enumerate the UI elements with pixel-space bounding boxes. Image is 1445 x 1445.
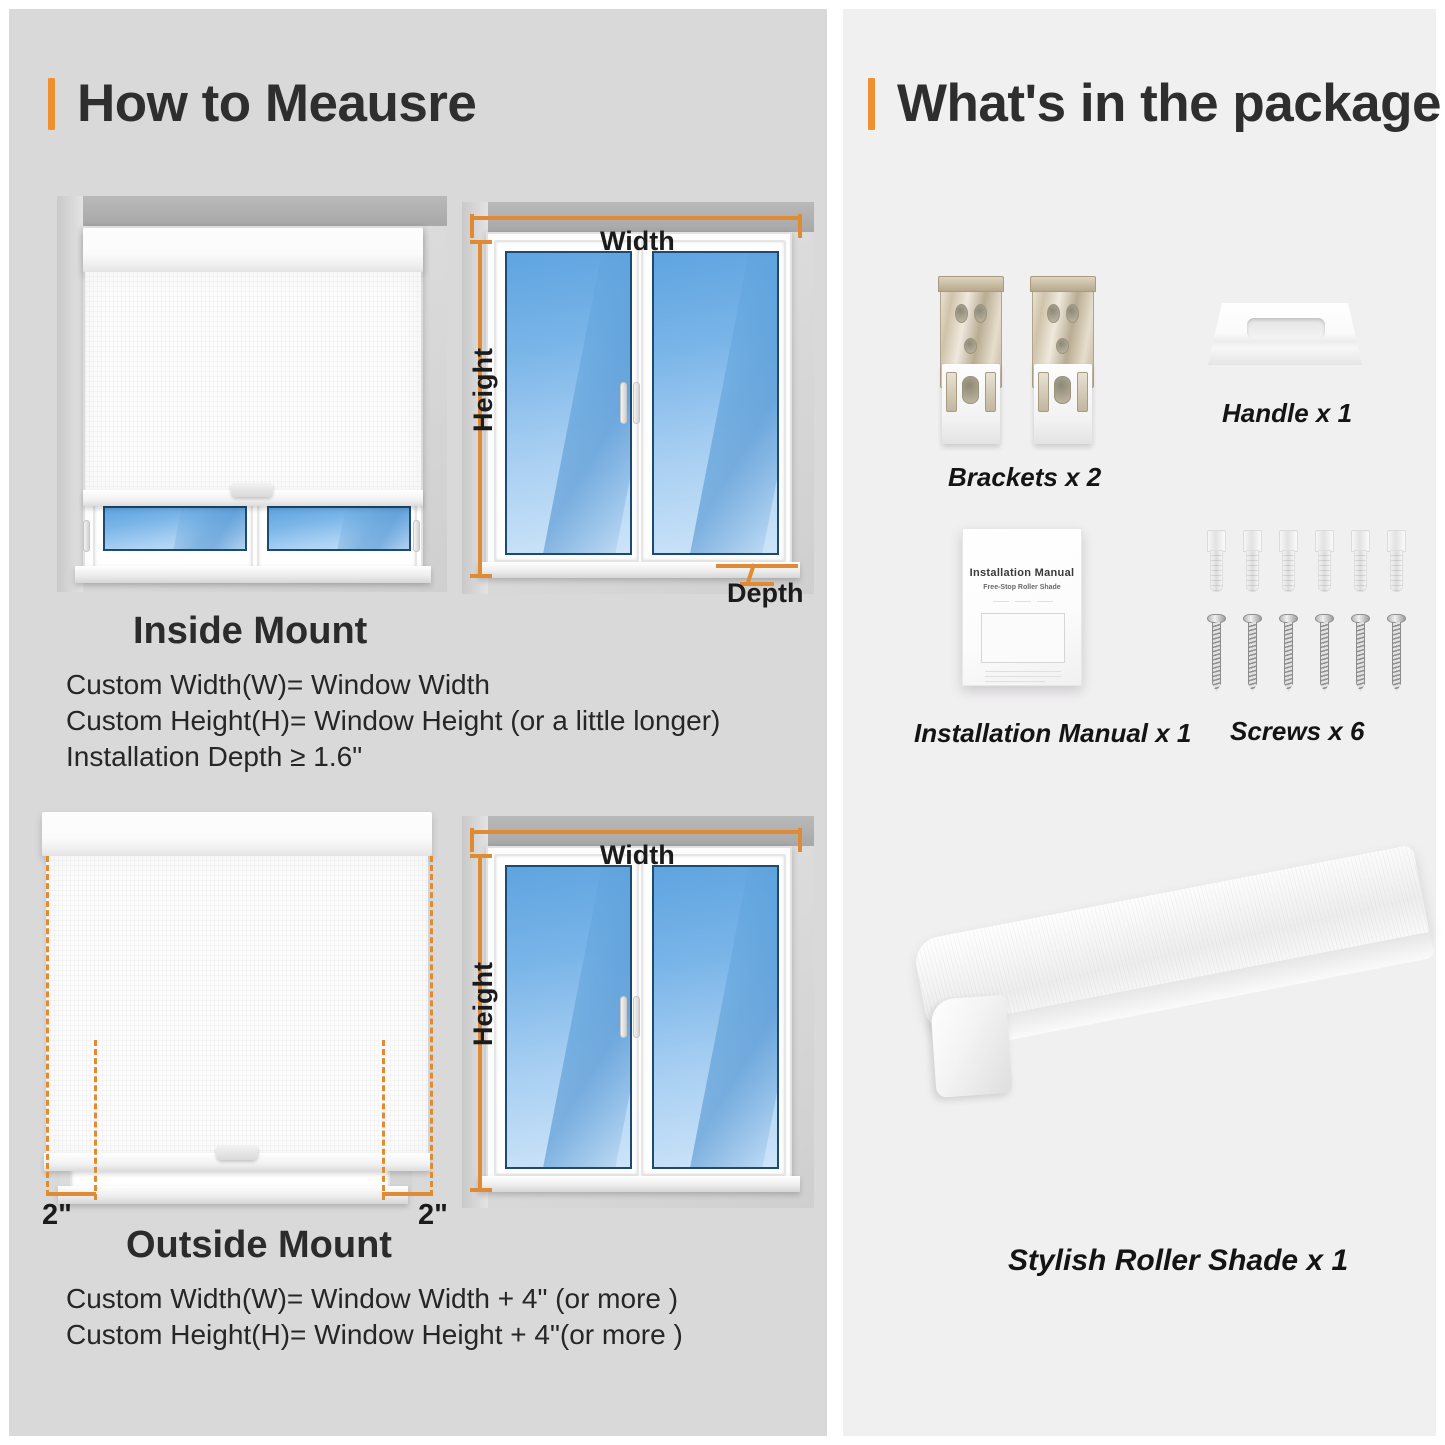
how-to-measure-heading: How to Meausre bbox=[48, 73, 476, 134]
depth-label: Depth bbox=[727, 578, 804, 609]
width-measure-cap-left bbox=[470, 214, 474, 238]
overhang-guide-right-window bbox=[382, 1040, 385, 1200]
overhang-arrow-left bbox=[46, 1192, 96, 1196]
screw-icon-4 bbox=[1315, 614, 1334, 692]
window-sill bbox=[478, 1176, 800, 1192]
window-sash-left bbox=[93, 498, 253, 570]
manual-cover-title: Installation Manual bbox=[963, 567, 1081, 579]
window-handle-left-icon bbox=[83, 520, 90, 552]
window-reveal-top bbox=[57, 196, 447, 226]
inside-mount-title: Inside Mount bbox=[133, 610, 367, 653]
overhang-label-left: 2" bbox=[42, 1199, 72, 1232]
overhang-guide-left-window bbox=[94, 1040, 97, 1200]
height-measure-cap-bottom bbox=[470, 1188, 492, 1192]
package-title: What's in the package bbox=[897, 73, 1441, 134]
outside-mount-spec-height: Custom Height(H)= Window Height + 4"(or … bbox=[66, 1319, 683, 1351]
wall-anchor-icon-5 bbox=[1351, 530, 1370, 592]
window-sash-right bbox=[641, 854, 786, 1176]
width-measure-cap-right bbox=[798, 828, 802, 852]
overhang-label-right: 2" bbox=[418, 1199, 448, 1232]
roller-shade-end-cap bbox=[930, 995, 1013, 1098]
screw-icon-1 bbox=[1207, 614, 1226, 692]
window-handle-right-icon bbox=[633, 996, 640, 1038]
window-sill bbox=[58, 1186, 408, 1204]
screw-icon-5 bbox=[1351, 614, 1370, 692]
height-measure-cap-top bbox=[470, 854, 492, 858]
window-handle-right-icon bbox=[633, 382, 640, 424]
overhang-guide-left-shade bbox=[46, 856, 49, 1196]
infographic-page: How to Meausre What's in the package bbox=[0, 0, 1445, 1445]
window-sill bbox=[75, 566, 431, 583]
shade-pull-tab bbox=[231, 483, 273, 497]
width-measure-cap-right bbox=[798, 214, 802, 238]
wall-anchor-icon-1 bbox=[1207, 530, 1226, 592]
installation-manual-icon: Installation Manual Free-Stop Roller Sha… bbox=[962, 528, 1082, 686]
package-heading: What's in the package bbox=[868, 73, 1441, 134]
shade-cassette bbox=[42, 812, 432, 856]
window-glass-left bbox=[103, 506, 247, 551]
window-sash-right bbox=[257, 498, 417, 570]
shade-fabric bbox=[46, 856, 428, 1156]
inside-mount-spec-depth: Installation Depth ≥ 1.6" bbox=[66, 741, 362, 773]
accent-bar-icon bbox=[48, 78, 55, 130]
shade-cassette bbox=[83, 228, 423, 272]
screws-label: Screws x 6 bbox=[1230, 716, 1364, 747]
window-glass-right bbox=[652, 251, 779, 555]
handle-label: Handle x 1 bbox=[1222, 398, 1352, 429]
window-handle-left-icon bbox=[620, 382, 627, 424]
window-glass-right bbox=[652, 865, 779, 1169]
outside-mount-title: Outside Mount bbox=[126, 1224, 392, 1267]
width-label: Width bbox=[600, 226, 675, 257]
window-handle-right-icon bbox=[413, 520, 420, 552]
accent-bar-icon bbox=[868, 78, 875, 130]
window-glass-right bbox=[267, 506, 411, 551]
shade-pull-tab bbox=[216, 1146, 258, 1160]
roller-shade-label: Stylish Roller Shade x 1 bbox=[1008, 1244, 1348, 1278]
screw-icon-6 bbox=[1387, 614, 1406, 692]
shade-fabric bbox=[85, 272, 421, 492]
screw-icon-2 bbox=[1243, 614, 1262, 692]
wall-anchor-icon-4 bbox=[1315, 530, 1334, 592]
width-label: Width bbox=[600, 840, 675, 871]
how-to-measure-title: How to Meausre bbox=[77, 73, 476, 134]
brackets-label: Brackets x 2 bbox=[948, 462, 1101, 493]
window-sash-right bbox=[641, 240, 786, 562]
inside-mount-spec-width: Custom Width(W)= Window Width bbox=[66, 669, 490, 701]
width-measure-line bbox=[470, 830, 802, 834]
height-measure-cap-top bbox=[470, 240, 492, 244]
wall-anchor-icon-3 bbox=[1279, 530, 1298, 592]
handle-slot bbox=[1247, 318, 1325, 339]
manual-label: Installation Manual x 1 bbox=[914, 718, 1191, 749]
window-glass-left bbox=[505, 251, 632, 555]
height-label: Height bbox=[468, 348, 499, 432]
window-sash-left bbox=[494, 240, 639, 562]
depth-measure-line bbox=[716, 564, 798, 568]
inside-mount-spec-height: Custom Height(H)= Window Height (or a li… bbox=[66, 705, 720, 737]
wall-anchor-icon-6 bbox=[1387, 530, 1406, 592]
window-sash-left bbox=[494, 854, 639, 1176]
outside-mount-spec-width: Custom Width(W)= Window Width + 4" (or m… bbox=[66, 1283, 678, 1315]
window-handle-left-icon bbox=[620, 996, 627, 1038]
manual-cover-subtitle: Free-Stop Roller Shade bbox=[963, 584, 1081, 591]
width-measure-cap-left bbox=[470, 828, 474, 852]
window-glass-left bbox=[505, 865, 632, 1169]
overhang-guide-right-shade bbox=[430, 856, 433, 1196]
wall-anchor-icon-2 bbox=[1243, 530, 1262, 592]
height-measure-cap-bottom bbox=[470, 574, 492, 578]
bracket-icon-1 bbox=[938, 276, 1004, 444]
height-label: Height bbox=[468, 962, 499, 1046]
screw-icon-3 bbox=[1279, 614, 1298, 692]
overhang-arrow-right bbox=[382, 1192, 432, 1196]
window-reveal-left bbox=[57, 196, 83, 592]
bracket-icon-2 bbox=[1030, 276, 1096, 444]
width-measure-line bbox=[470, 216, 802, 220]
